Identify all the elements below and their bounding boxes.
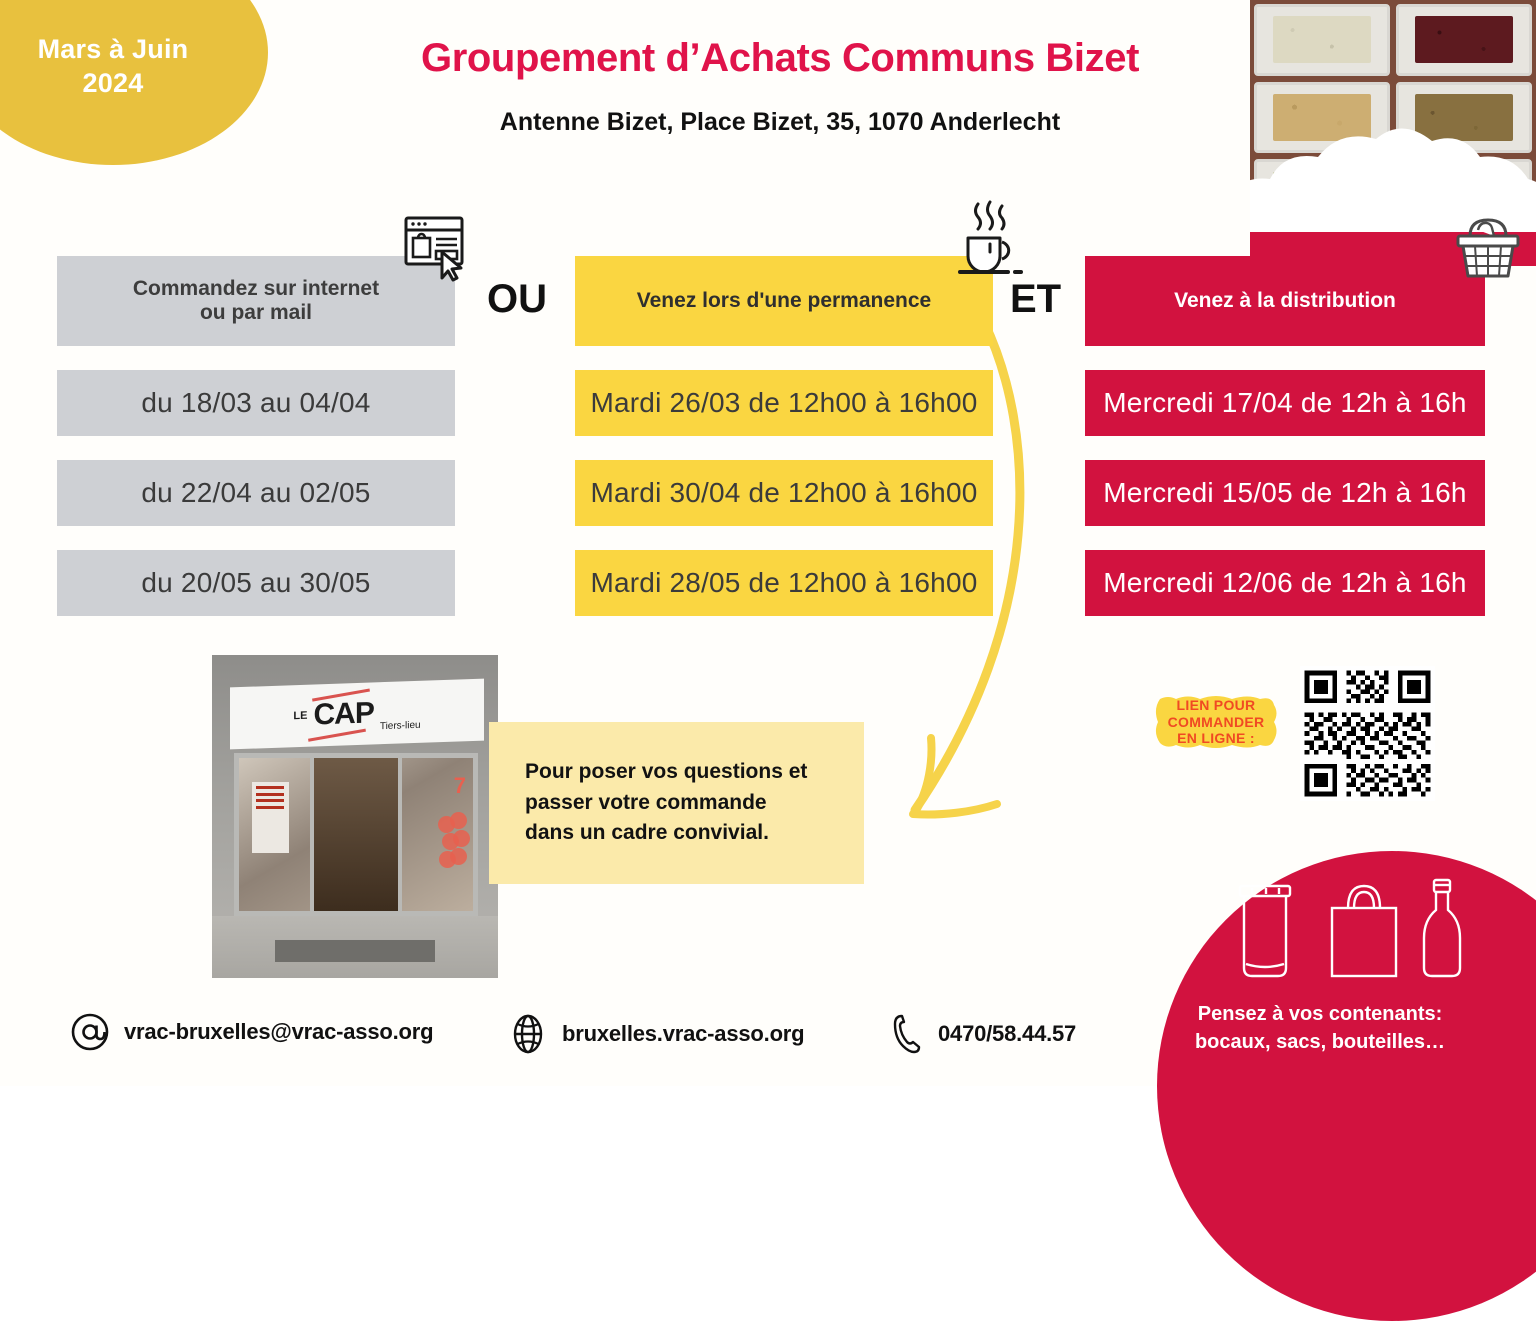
page-subtitle: Antenne Bizet, Place Bizet, 35, 1070 And… (340, 108, 1220, 137)
date-badge: Mars à Juin 2024 (0, 0, 268, 165)
distribution-slot-3: Mercredi 12/06 de 12h à 16h (1085, 550, 1485, 616)
column-distribution-header: Venez à la distribution (1085, 256, 1485, 346)
containers-line2: bocaux, sacs, bouteilles… (1155, 1028, 1485, 1056)
storefront-photo: LE CAP Tiers-lieu 7 (212, 655, 498, 978)
date-badge-text: Mars à Juin 2024 (38, 5, 189, 101)
qr-code[interactable] (1300, 666, 1435, 801)
date-badge-line2: 2024 (38, 67, 189, 101)
coffee-cup-icon (958, 200, 1030, 285)
containers-text: Pensez à vos contenants: bocaux, sacs, b… (1155, 1000, 1485, 1056)
storefront-door (314, 758, 402, 911)
footer-email-text: vrac-bruxelles@vrac-asso.org (124, 1019, 433, 1045)
qr-code-image (1300, 666, 1435, 801)
qr-label-line2: COMMANDER (1168, 714, 1265, 731)
footer: vrac-bruxelles@vrac-asso.org bruxelles.v… (0, 1004, 1160, 1064)
jar-icon (1240, 886, 1290, 976)
window-stickers (435, 810, 468, 868)
at-sign-icon (70, 1012, 110, 1052)
info-note: Pour poser vos questions et passer votre… (489, 722, 864, 884)
permanence-slot-1: Mardi 26/03 de 12h00 à 16h00 (575, 370, 993, 436)
window-left (239, 758, 314, 911)
column-order-header: Commandez sur internet ou par mail (57, 256, 455, 346)
bottle-icon (1424, 880, 1460, 976)
qr-label-text: LIEN POUR COMMANDER EN LIGNE : (1168, 697, 1265, 747)
column-order-header-line2: ou par mail (133, 301, 379, 325)
permanence-slot-2: Mardi 30/04 de 12h00 à 16h00 (575, 460, 993, 526)
column-permanence-header: Venez lors d'une permanence (575, 256, 993, 346)
column-distribution: Venez à la distribution Mercredi 17/04 d… (1085, 256, 1485, 616)
page-title: Groupement d’Achats Communs Bizet (340, 36, 1220, 81)
sign-prefix: LE (293, 710, 307, 722)
footer-phone[interactable]: 0470/58.44.57 (888, 1012, 1076, 1056)
order-period-1: du 18/03 au 04/04 (57, 370, 455, 436)
distribution-slot-1: Mercredi 17/04 de 12h à 16h (1085, 370, 1485, 436)
note-line2: passer votre commande (525, 791, 767, 814)
footer-email[interactable]: vrac-bruxelles@vrac-asso.org (70, 1012, 433, 1052)
connector-or: OU (487, 277, 547, 322)
footer-phone-text: 0470/58.44.57 (938, 1021, 1076, 1047)
qr-label-badge: LIEN POUR COMMANDER EN LIGNE : (1152, 693, 1280, 751)
qr-label-line1: LIEN POUR (1168, 697, 1265, 714)
window-poster (252, 782, 289, 852)
storefront-windows: 7 (234, 753, 478, 916)
qr-label-line3: EN LIGNE : (1168, 730, 1265, 747)
phone-icon (888, 1012, 924, 1056)
bulk-bin (1254, 4, 1390, 76)
footer-website[interactable]: bruxelles.vrac-asso.org (508, 1012, 804, 1056)
note-line3: dans un cadre convivial. (525, 821, 769, 844)
order-period-3: du 20/05 au 30/05 (57, 550, 455, 616)
containers-line1: Pensez à vos contenants: (1155, 1000, 1485, 1028)
poster-canvas: Mars à Juin 2024 Groupement d’Achats Com… (0, 0, 1536, 1086)
permanence-slot-3: Mardi 28/05 de 12h00 à 16h00 (575, 550, 993, 616)
sign-suffix: Tiers-lieu (380, 720, 421, 732)
window-number: 7 (454, 773, 466, 799)
container-icons (1232, 876, 1500, 991)
column-order: Commandez sur internet ou par mail du 18… (57, 256, 455, 616)
bulk-bin (1396, 4, 1532, 76)
date-badge-line1: Mars à Juin (38, 33, 189, 67)
storefront-pavement (212, 916, 498, 978)
globe-icon (508, 1012, 548, 1056)
browser-cart-cursor-icon (402, 212, 474, 289)
footer-website-text: bruxelles.vrac-asso.org (562, 1021, 804, 1047)
distribution-slot-2: Mercredi 15/05 de 12h à 16h (1085, 460, 1485, 526)
bulk-food-photo (1250, 0, 1536, 235)
column-order-header-line1: Commandez sur internet (133, 277, 379, 301)
order-period-2: du 22/04 au 02/05 (57, 460, 455, 526)
column-permanence: Venez lors d'une permanence Mardi 26/03 … (575, 256, 993, 616)
window-right: 7 (402, 758, 473, 911)
note-line1: Pour poser vos questions et (525, 760, 807, 783)
sign-name: CAP (313, 696, 373, 732)
tote-bag-icon (1332, 886, 1396, 976)
shopping-basket-icon (1448, 206, 1528, 291)
storefront-sign: LE CAP Tiers-lieu (230, 679, 484, 750)
